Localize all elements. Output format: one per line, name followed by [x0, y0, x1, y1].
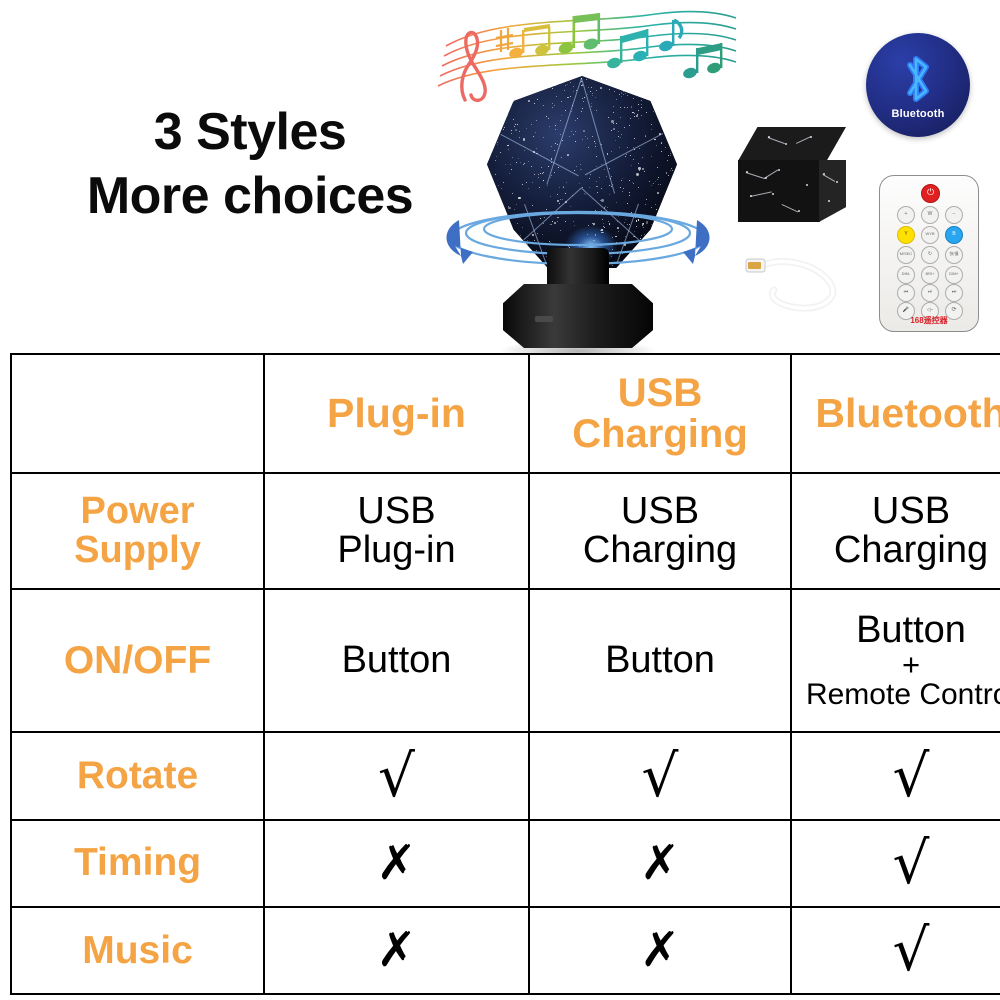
check-icon: √: [796, 747, 1000, 805]
cross-icon: ✗: [534, 839, 786, 887]
usb-cable-image: [744, 248, 864, 318]
check-icon: √: [796, 834, 1000, 892]
remote-next-button: ⏭: [945, 284, 963, 302]
remote-speed-button: 快/慢: [945, 246, 963, 264]
remote-dim-down-button: DIM-: [897, 266, 915, 284]
remote-blue-button: B: [945, 226, 963, 244]
table-corner-cell: [11, 354, 264, 473]
column-header-bluetooth: Bluetooth: [791, 354, 1000, 473]
product-comparison-image: 3 Styles More choices: [0, 0, 1000, 1000]
cell-power-supply-plug-in: USB Plug-in: [264, 473, 529, 589]
usb-charging-line-2: Charging: [572, 412, 748, 456]
headline-line-1: 3 Styles: [55, 104, 445, 160]
row-label-rotate: Rotate: [11, 732, 264, 819]
table-row: Music ✗ ✗ √: [11, 907, 1000, 994]
page-title: 3 Styles More choices: [55, 104, 445, 224]
cell-rotate-bluetooth: √: [791, 732, 1000, 819]
column-header-plug-in: Plug-in: [264, 354, 529, 473]
remote-previous-button: ⏮: [897, 284, 915, 302]
table-header-row: Plug-in USB Charging Bluetooth: [11, 354, 1000, 473]
cell-on-off-plug-in: Button: [264, 589, 529, 732]
remote-control-image: ⏻ + W − Y WYB B M/SEC ↻ 快/慢 DIM- BRI+ DI…: [879, 175, 979, 332]
gift-box-side: [819, 160, 846, 222]
remote-power-button: ⏻: [921, 184, 940, 203]
cell-music-usb-charging: ✗: [529, 907, 791, 994]
cell-on-off-bluetooth: Button + Remote Control: [791, 589, 1000, 732]
table-row: Rotate √ √ √: [11, 732, 1000, 819]
usb-charging-line-1: USB: [618, 371, 702, 415]
remote-plus-button: +: [897, 206, 915, 224]
remote-brightness-button: BRI+: [921, 266, 939, 284]
column-header-usb-charging: USB Charging: [529, 354, 791, 473]
cell-timing-usb-charging: ✗: [529, 820, 791, 907]
cell-timing-plug-in: ✗: [264, 820, 529, 907]
check-icon: √: [269, 747, 524, 805]
cross-icon: ✗: [269, 839, 524, 887]
cross-icon: ✗: [269, 926, 524, 974]
row-label-music: Music: [11, 907, 264, 994]
remote-rotate-button: ↻: [921, 246, 939, 264]
cell-power-supply-bluetooth: USB Charging: [791, 473, 1000, 589]
bluetooth-badge-label: Bluetooth: [866, 108, 970, 120]
remote-minus-button: −: [945, 206, 963, 224]
cell-rotate-plug-in: √: [264, 732, 529, 819]
headline-line-2: More choices: [55, 168, 445, 224]
check-icon: √: [796, 921, 1000, 979]
gift-box-image: [738, 127, 846, 227]
hero-section: 3 Styles More choices: [0, 0, 1000, 355]
cell-rotate-usb-charging: √: [529, 732, 791, 819]
usb-port: [535, 316, 553, 322]
cell-power-supply-usb-charging: USB Charging: [529, 473, 791, 589]
cell-music-bluetooth: √: [791, 907, 1000, 994]
remote-wyb-button: WYB: [921, 226, 939, 244]
remote-mode-button: M/SEC: [897, 246, 915, 264]
cell-music-plug-in: ✗: [264, 907, 529, 994]
remote-dim-up-button: DIM+: [945, 266, 963, 284]
table-row: ON/OFF Button Button Button + Remote Con…: [11, 589, 1000, 732]
row-label-power-supply: Power Supply: [11, 473, 264, 589]
table-row: Timing ✗ ✗ √: [11, 820, 1000, 907]
bluetooth-badge: Bluetooth: [866, 33, 970, 137]
cross-icon: ✗: [534, 926, 786, 974]
gift-box-lid: [738, 127, 846, 161]
check-icon: √: [534, 747, 786, 805]
star-projector-product-image: [443, 72, 713, 355]
remote-play-pause-button: ⏯: [921, 284, 939, 302]
remote-yellow-button: Y: [897, 226, 915, 244]
table-row: Power Supply USB Plug-in USB Charging: [11, 473, 1000, 589]
comparison-table: Plug-in USB Charging Bluetooth Power Sup: [10, 353, 1000, 995]
cell-timing-bluetooth: √: [791, 820, 1000, 907]
row-label-on-off: ON/OFF: [11, 589, 264, 732]
bluetooth-icon: [894, 51, 942, 107]
cell-on-off-usb-charging: Button: [529, 589, 791, 732]
remote-white-button: W: [921, 206, 939, 224]
remote-model-label: 168遥控器: [880, 315, 978, 326]
row-label-timing: Timing: [11, 820, 264, 907]
gift-box-front: [738, 160, 820, 222]
projector-base: [503, 284, 653, 348]
